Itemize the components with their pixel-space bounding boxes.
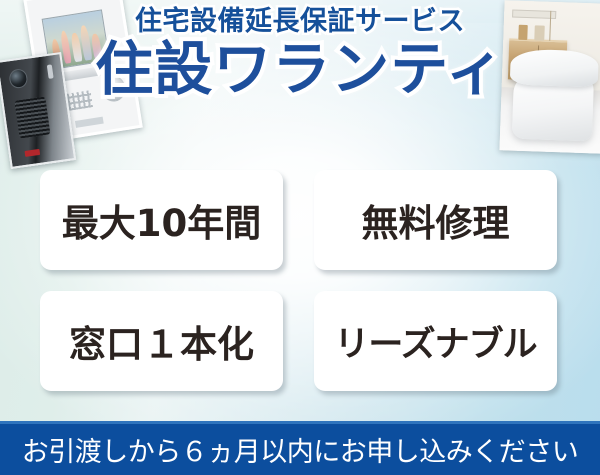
feature-box-max-years: 最大10年間 (40, 170, 283, 270)
application-deadline-text: お引渡しから６ヵ月以内にお申し込みください (22, 430, 579, 469)
feature-label: 窓口１本化 (69, 314, 254, 368)
monitor-logo (75, 117, 103, 128)
feature-label: 無料修理 (362, 193, 510, 247)
feature-box-single-contact: 窓口１本化 (40, 291, 283, 391)
station-call-button (24, 149, 39, 156)
headline-block: 住宅設備延長保証サービス 住設ワランティ (0, 8, 600, 101)
speaker-grille (14, 97, 50, 139)
service-subtitle: 住宅設備延長保証サービス (0, 8, 600, 36)
feature-label: 最大10年間 (62, 193, 262, 247)
feature-label: リーズナブル (334, 316, 536, 367)
feature-box-grid: 最大10年間 無料修理 窓口１本化 リーズナブル (40, 170, 557, 391)
page-title: 住設ワランティ (0, 38, 600, 101)
feature-box-free-repair: 無料修理 (314, 170, 557, 270)
feature-box-reasonable: リーズナブル (314, 291, 557, 391)
application-deadline-banner: お引渡しから６ヵ月以内にお申し込みください (0, 421, 600, 475)
promo-banner: 住宅設備延長保証サービス 住設ワランティ 最大10年間 無料修理 窓口１本化 リ… (0, 0, 600, 475)
